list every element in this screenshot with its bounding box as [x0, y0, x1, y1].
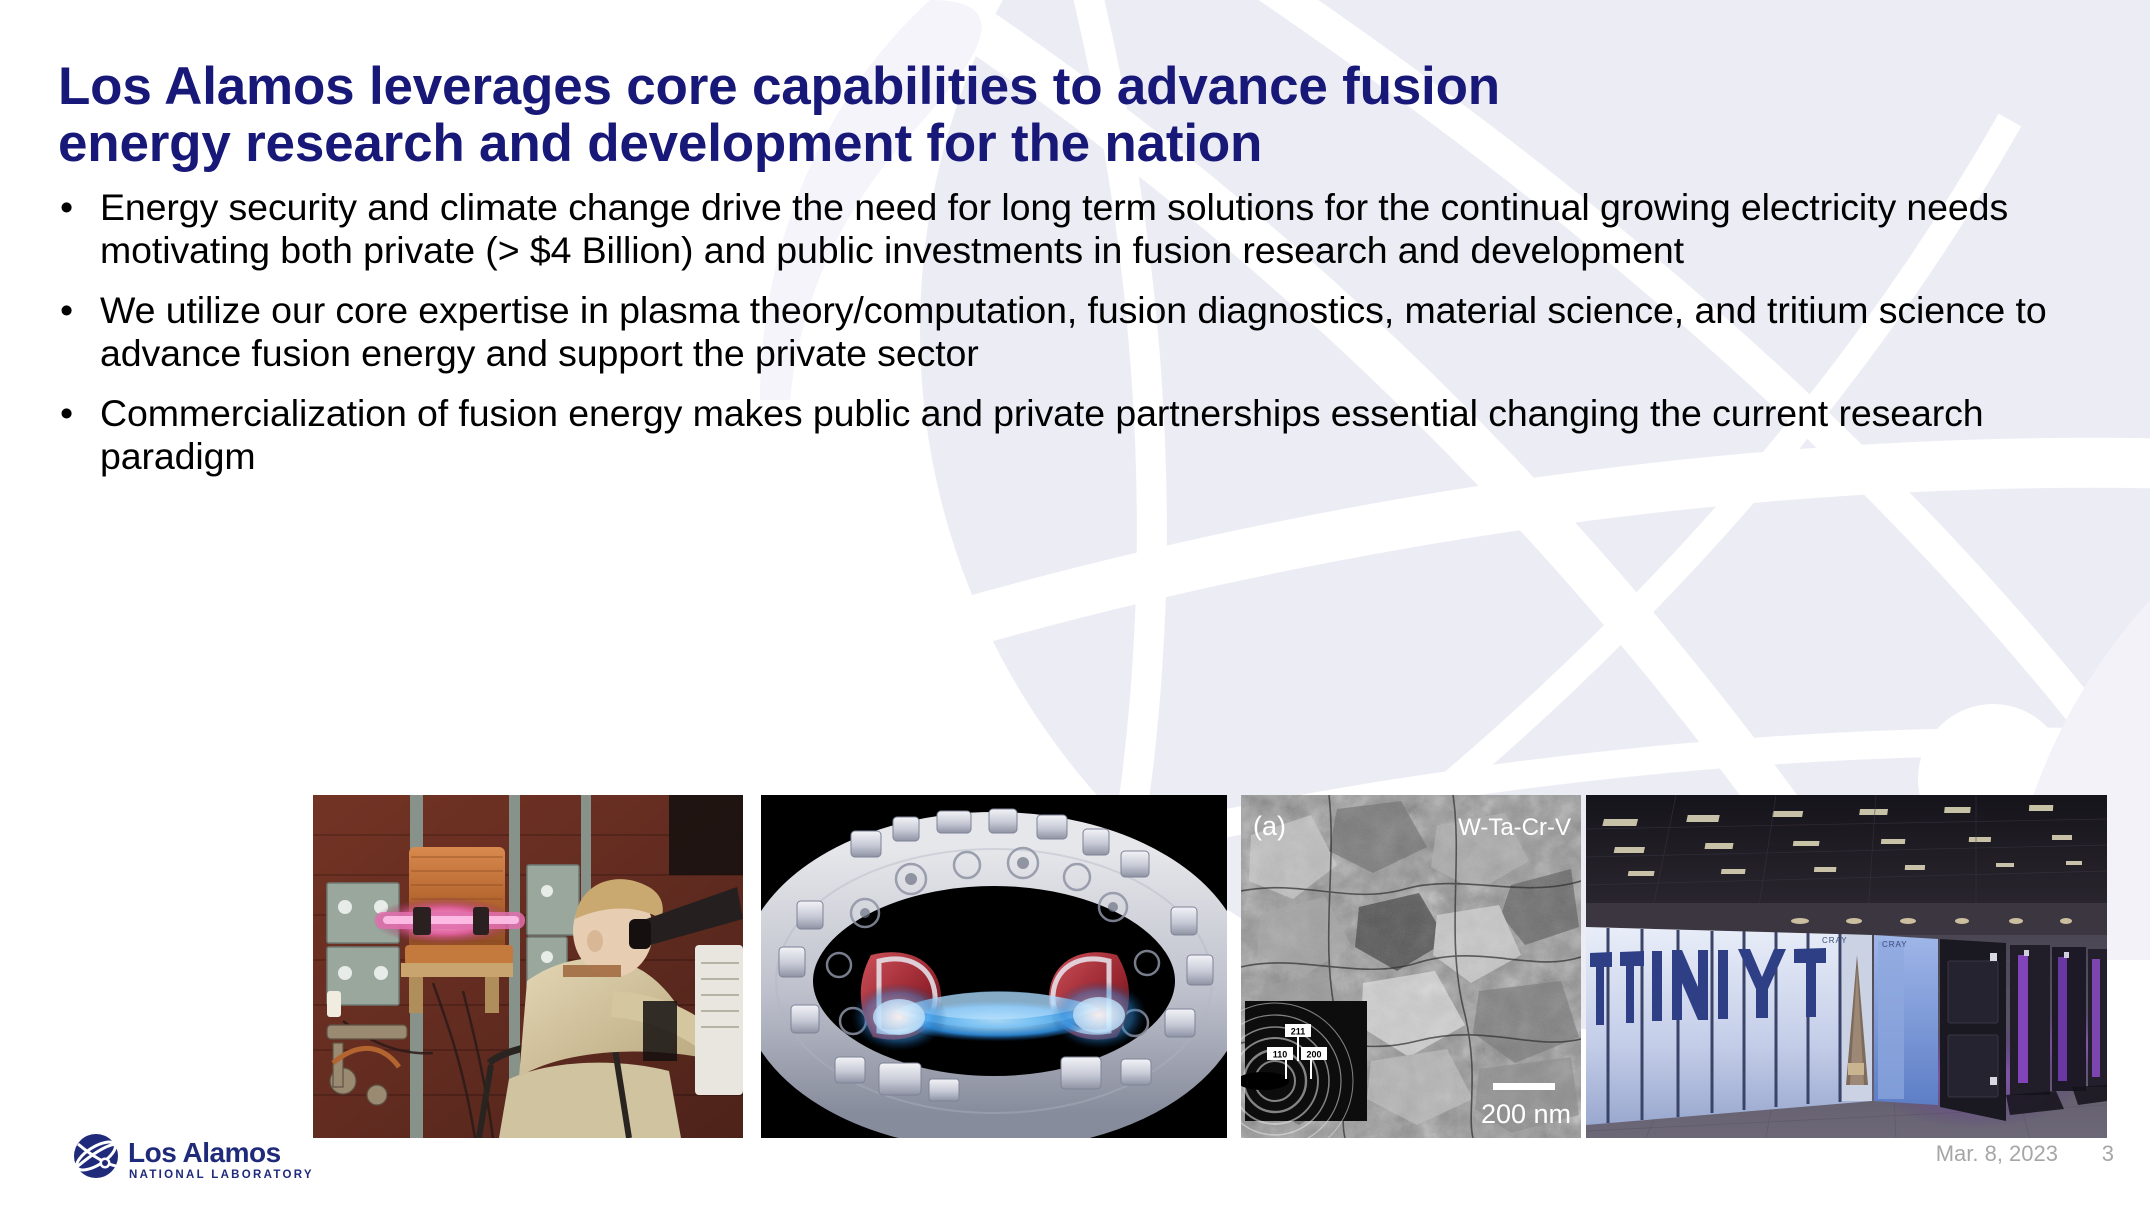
historic-plasma-experiment-photo [313, 795, 743, 1138]
trinity-supercomputer-photo: CRAY CRAY [1586, 795, 2107, 1138]
tokamak-plasma-image [761, 795, 1227, 1138]
bullet-item: • Commercialization of fusion energy mak… [52, 392, 2052, 477]
los-alamos-globe-icon [73, 1134, 120, 1178]
material-label: W-Ta-Cr-V [1458, 814, 1571, 841]
scale-bar-label: 200 nm [1481, 1099, 1571, 1129]
footer-meta: Mar. 8, 2023 3 [1936, 1141, 2114, 1167]
los-alamos-subtitle: NATIONAL LABORATORY [129, 1169, 314, 1181]
bullet-marker-icon: • [60, 289, 73, 332]
image-strip: 211 110 200 (a) W-Ta-Cr-V [0, 795, 2150, 1138]
slide-date: Mar. 8, 2023 [1936, 1141, 2058, 1167]
bullet-text: Energy security and climate change drive… [100, 186, 2052, 271]
slide-title-line-2: energy research and development for the … [58, 115, 1918, 172]
cray-logo-text: CRAY [1882, 940, 1908, 949]
bullet-item: • Energy security and climate change dri… [52, 186, 2052, 271]
historic-plasma-experiment-image [313, 795, 743, 1138]
bullet-text: We utilize our core expertise in plasma … [100, 289, 2052, 374]
los-alamos-wordmark: Los Alamos [128, 1137, 281, 1168]
bullet-marker-icon: • [60, 186, 73, 229]
diffraction-label-200: 200 [1306, 1050, 1321, 1060]
slide-title: Los Alamos leverages core capabilities t… [58, 58, 1918, 172]
bullet-text: Commercialization of fusion energy makes… [100, 392, 2052, 477]
los-alamos-logo-graphic: Los Alamos NATIONAL LABORATORY [72, 1132, 322, 1184]
bullet-item: • We utilize our core expertise in plasm… [52, 289, 2052, 374]
presentation-slide: Los Alamos leverages core capabilities t… [0, 0, 2150, 1209]
bullet-marker-icon: • [60, 392, 73, 435]
tokamak-plasma-render [761, 795, 1227, 1138]
tem-micrograph-alloy: 211 110 200 (a) W-Ta-Cr-V [1241, 795, 1581, 1138]
slide-page-number: 3 [2098, 1141, 2114, 1167]
diffraction-label-211: 211 [1291, 1027, 1306, 1037]
los-alamos-logo: Los Alamos NATIONAL LABORATORY [72, 1132, 322, 1184]
slide-title-line-1: Los Alamos leverages core capabilities t… [58, 58, 1918, 115]
bullet-list: • Energy security and climate change dri… [52, 186, 2052, 495]
tem-micrograph-image: 211 110 200 (a) W-Ta-Cr-V [1241, 795, 1581, 1138]
diffraction-label-110: 110 [1273, 1050, 1288, 1060]
cray-logo-text: CRAY [1822, 936, 1848, 945]
panel-label: (a) [1253, 811, 1286, 841]
supercomputer-hall-image: CRAY CRAY [1586, 795, 2107, 1138]
